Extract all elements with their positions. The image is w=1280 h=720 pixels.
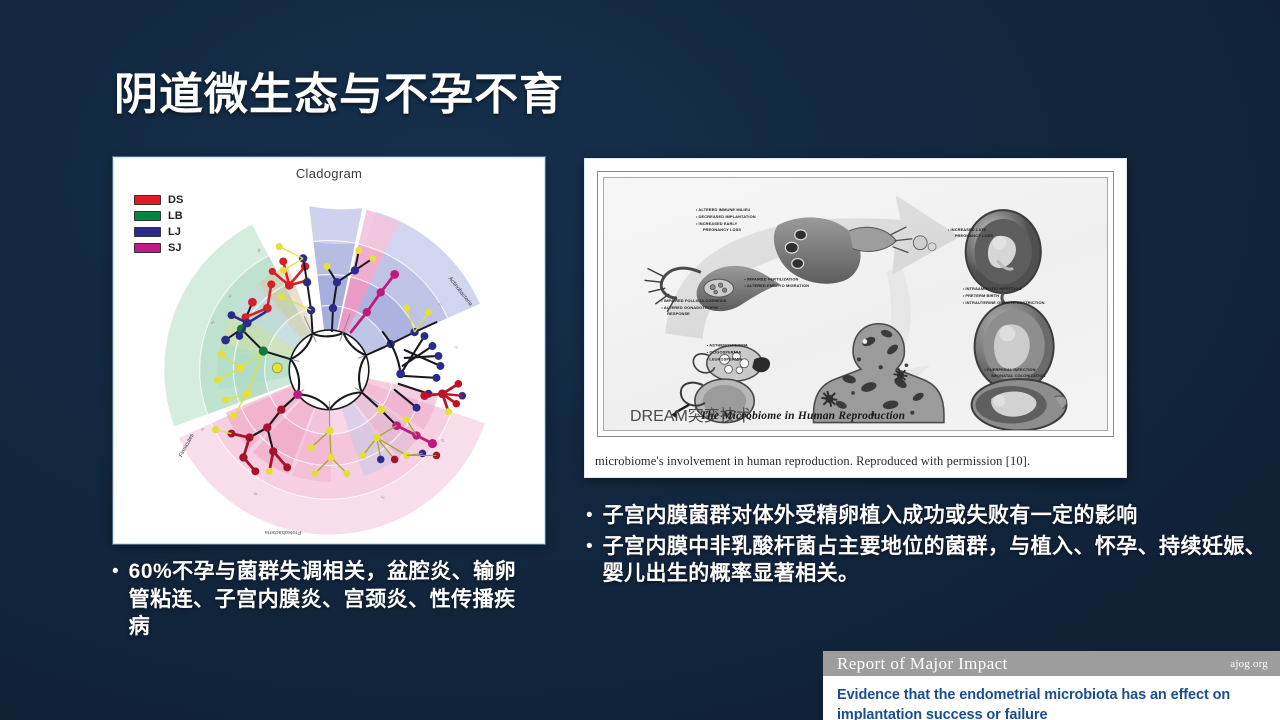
svg-text:RESPONSE: RESPONSE	[667, 311, 690, 316]
sector-label-proteobacteria: Proteobacteria	[264, 529, 301, 535]
svg-text:• INCREASED LATE: • INCREASED LATE	[948, 227, 987, 232]
bullet-marker: •	[584, 533, 593, 559]
figure-inner-frame: • ALTERED IMMUNE MILIEU • DECREASED IMPL…	[603, 177, 1108, 431]
cladogram-figure-panel[interactable]: Cladogram DS LB LJ SJ	[113, 157, 545, 544]
legend-label-ds: DS	[168, 194, 183, 206]
svg-text:• OLIGOSPERMIA: • OLIGOSPERMIA	[707, 349, 742, 354]
journal-banner-bar: Report of Major Impact ajog.org	[823, 651, 1280, 676]
svg-text:• ALTERED EMBRYO MIGRATION: • ALTERED EMBRYO MIGRATION	[744, 283, 809, 288]
journal-domain-label: ajog.org	[1230, 658, 1268, 670]
right-bullet-list: • 子宫内膜菌群对体外受精卵植入成功或失败有一定的影响 • 子宫内膜中非乳酸杆菌…	[584, 502, 1274, 591]
bullet-text: 子宫内膜中非乳酸杆菌占主要地位的菌群，与植入、怀孕、持续妊娠、婴儿出生的概率显著…	[603, 533, 1274, 588]
legend-item-lj: LJ	[134, 226, 183, 238]
journal-section-label: Report of Major Impact	[837, 654, 1008, 674]
bullet-marker: •	[584, 502, 593, 528]
left-bullet-list: • 60%不孕与菌群失调相关，盆腔炎、输卵管粘连、子宫内膜炎、宫颈炎、性传播疾病	[110, 558, 530, 641]
legend-item-ds: DS	[134, 194, 183, 206]
svg-text:• DECREASED IMPLANTATION: • DECREASED IMPLANTATION	[696, 214, 756, 219]
svg-text:• PUERPERAL INFECTION: • PUERPERAL INFECTION	[984, 367, 1035, 372]
list-item: • 60%不孕与菌群失调相关，盆腔炎、输卵管粘连、子宫内膜炎、宫颈炎、性传播疾病	[110, 558, 530, 641]
list-item: • 子宫内膜菌群对体外受精卵植入成功或失败有一定的影响	[584, 502, 1274, 530]
legend-label-sj: SJ	[168, 242, 181, 254]
svg-text:• ALTERED GONADOTROPIN: • ALTERED GONADOTROPIN	[661, 305, 718, 310]
legend-label-lj: LJ	[168, 226, 181, 238]
legend-swatch-ds	[134, 195, 161, 205]
svg-text:PREGNANCY LOSS: PREGNANCY LOSS	[703, 227, 742, 232]
cladogram-legend: DS LB LJ SJ	[134, 194, 183, 254]
svg-text:• IMPAIRED FERTILIZATION: • IMPAIRED FERTILIZATION	[744, 276, 798, 281]
page-title: 阴道微生态与不孕不育	[114, 58, 564, 122]
microbiome-figure-panel[interactable]: • ALTERED IMMUNE MILIEU • DECREASED IMPL…	[584, 158, 1127, 478]
legend-swatch-lb	[134, 211, 161, 221]
journal-article-title: Evidence that the endometrial microbiota…	[823, 676, 1280, 720]
svg-text:• INCREASED EARLY: • INCREASED EARLY	[696, 221, 738, 226]
svg-text:• ASTHENOSPERMIA: • ASTHENOSPERMIA	[707, 342, 748, 347]
figure-outer-frame: • ALTERED IMMUNE MILIEU • DECREASED IMPL…	[597, 171, 1114, 437]
legend-swatch-lj	[134, 227, 161, 237]
svg-text:• ALTERED IMMUNE MILIEU: • ALTERED IMMUNE MILIEU	[696, 207, 750, 212]
svg-text:NEONATAL COLONIZATION: NEONATAL COLONIZATION	[991, 373, 1045, 378]
microbiome-reproduction-graphic: • ALTERED IMMUNE MILIEU • DECREASED IMPL…	[604, 178, 1107, 430]
legend-item-lb: LB	[134, 210, 183, 222]
bullet-marker: •	[110, 558, 119, 584]
legend-swatch-sj	[134, 243, 161, 253]
svg-text:• IMPAIRED FOLLICULOGENESIS: • IMPAIRED FOLLICULOGENESIS	[661, 298, 726, 303]
svg-text:PREGNANCY LOSS: PREGNANCY LOSS	[955, 233, 994, 238]
journal-article-banner[interactable]: Report of Major Impact ajog.org Evidence…	[823, 651, 1280, 720]
figure-caption: microbiome's involvement in human reprod…	[585, 454, 1126, 469]
svg-text:c2: c2	[454, 345, 458, 350]
legend-item-sj: SJ	[134, 242, 183, 254]
legend-label-lb: LB	[168, 210, 183, 222]
svg-text:• PRETERM BIRTH: • PRETERM BIRTH	[963, 293, 999, 298]
svg-text:• INTRAAMNIOTIC INFECTION: • INTRAAMNIOTIC INFECTION	[963, 286, 1022, 291]
bullet-text: 子宫内膜菌群对体外受精卵植入成功或失败有一定的影响	[603, 502, 1138, 530]
svg-text:• INTRAUTERINE GROWTH RESTRICT: • INTRAUTERINE GROWTH RESTRICTION	[963, 300, 1045, 305]
figure-subtitle: The Microbiome in Human Reproduction	[700, 410, 905, 422]
bullet-text: 60%不孕与菌群失调相关，盆腔炎、输卵管粘连、子宫内膜炎、宫颈炎、性传播疾病	[129, 558, 530, 641]
svg-text:• LEUKOSPERMIA: • LEUKOSPERMIA	[707, 356, 743, 361]
list-item: • 子宫内膜中非乳酸杆菌占主要地位的菌群，与植入、怀孕、持续妊娠、婴儿出生的概率…	[584, 533, 1274, 588]
